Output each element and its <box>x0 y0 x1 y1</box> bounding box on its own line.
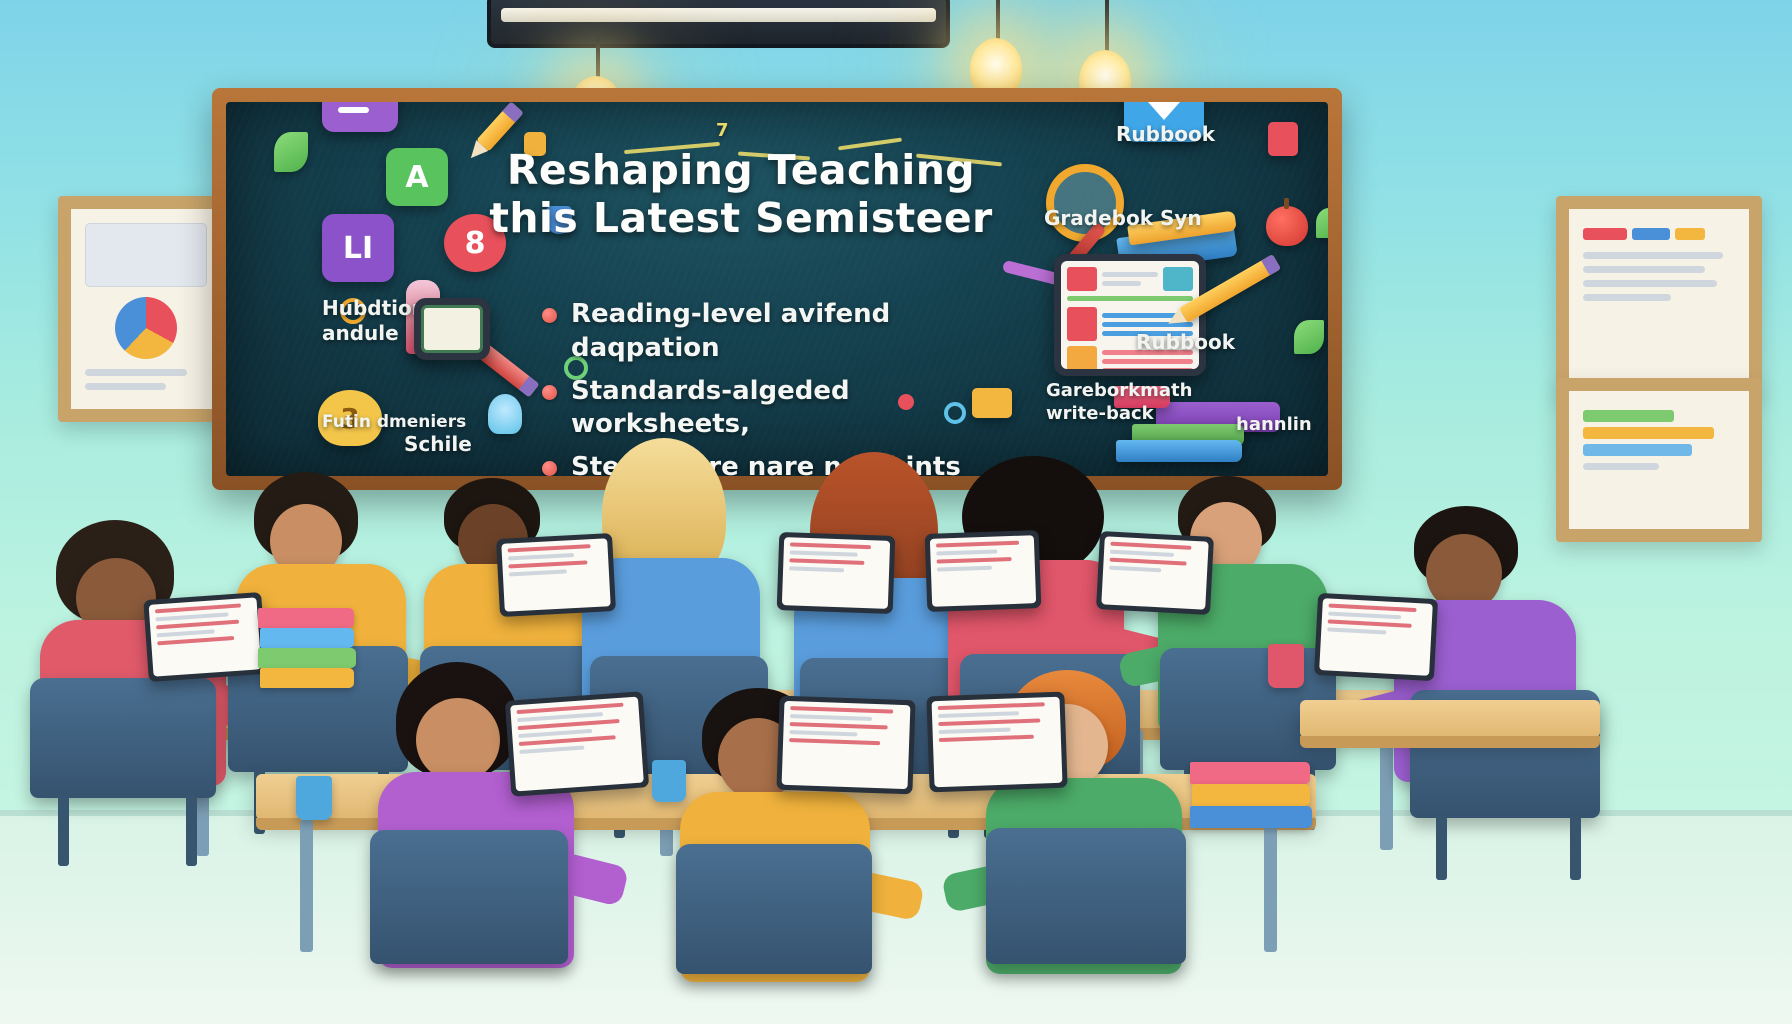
pie-chart-graphic <box>115 297 177 359</box>
tablet[interactable] <box>496 533 616 617</box>
chair-leg <box>186 796 197 866</box>
li-badge: LI <box>322 214 394 282</box>
tablet[interactable] <box>143 592 266 682</box>
pencil-cup <box>296 776 332 820</box>
desk-right <box>1300 700 1600 738</box>
bookmark-icon <box>1268 122 1298 156</box>
chalkboard: 7 A LI 8 <box>226 102 1328 476</box>
label-rubbook-mid: Rubbook <box>1136 330 1235 355</box>
tablet[interactable] <box>776 696 915 795</box>
bullet-dot <box>542 385 557 400</box>
pie-chart-poster <box>58 196 234 422</box>
chair <box>370 830 568 964</box>
pencil-icon <box>476 102 523 152</box>
wall-baseboard <box>0 814 1792 1024</box>
tablet[interactable] <box>505 691 649 796</box>
chair-leg <box>1570 816 1581 880</box>
desk-leg <box>300 820 313 952</box>
bullet-dot <box>542 308 557 323</box>
ceiling-light-fixture <box>487 0 950 48</box>
chalkboard-frame: 7 A LI 8 <box>212 88 1342 490</box>
tablet[interactable] <box>1096 531 1214 615</box>
desk-leg <box>1264 820 1277 952</box>
label-module: Hubdtion andule <box>322 296 426 346</box>
document-poster <box>1556 196 1762 394</box>
pencil-cup <box>652 760 686 802</box>
chair <box>30 678 216 798</box>
board-bullet-list: Reading-level avifend daqpation Standard… <box>542 298 1012 476</box>
book-icon <box>1116 440 1242 462</box>
label-handling: hannlin <box>1236 414 1312 437</box>
tablet[interactable] <box>926 692 1067 793</box>
lightbulb-icon <box>488 394 522 434</box>
grade-a-badge: A <box>386 148 448 206</box>
tablet[interactable] <box>925 530 1042 612</box>
title-line-1: Reshaping Teaching <box>481 146 1001 194</box>
poster-image <box>85 223 207 287</box>
list-item: Standards-algeded worksheets, <box>542 375 1012 443</box>
dot-icon <box>898 394 914 410</box>
message-icon <box>322 102 398 132</box>
leaf-icon <box>1316 208 1328 238</box>
tablet-icon <box>414 298 490 360</box>
label-rubbook-top: Rubbook <box>1116 122 1215 147</box>
truck-icon <box>972 388 1012 418</box>
label-future: Futin dmeniers <box>322 412 466 433</box>
bullet-text: Reading-level avifend daqpation <box>571 298 1012 366</box>
bullet-dot <box>542 461 557 476</box>
tablet[interactable] <box>777 532 896 614</box>
label-gradebook-math: Gareborkmath write-back <box>1046 380 1192 425</box>
bulb-cord <box>1105 0 1109 52</box>
bulb-cord <box>996 0 1000 40</box>
classroom-scene: 7 A LI 8 <box>0 0 1792 1024</box>
desk-leg <box>1380 730 1393 850</box>
pencil-cup <box>1268 644 1304 688</box>
apple-icon <box>1266 206 1308 246</box>
chalk-number-seven: 7 <box>716 120 729 143</box>
chart-poster <box>1556 378 1762 542</box>
chair-leg <box>1436 816 1447 880</box>
label-schedule: Schile <box>404 432 472 457</box>
chair-leg <box>58 796 69 866</box>
list-item: Reading-level avifend daqpation <box>542 298 1012 366</box>
board-title: Reshaping Teaching this Latest Semisteer <box>481 146 1001 243</box>
leaf-icon <box>274 132 308 172</box>
leaf-icon <box>1294 320 1324 354</box>
label-gradebook-sync: Gradebok Syn <box>1044 206 1202 231</box>
chair <box>986 828 1186 964</box>
tablet[interactable] <box>1314 593 1438 681</box>
chair <box>676 844 872 974</box>
title-line-2: this Latest Semisteer <box>481 194 1001 242</box>
circle-icon <box>944 402 966 424</box>
bulb-cord <box>596 38 600 78</box>
